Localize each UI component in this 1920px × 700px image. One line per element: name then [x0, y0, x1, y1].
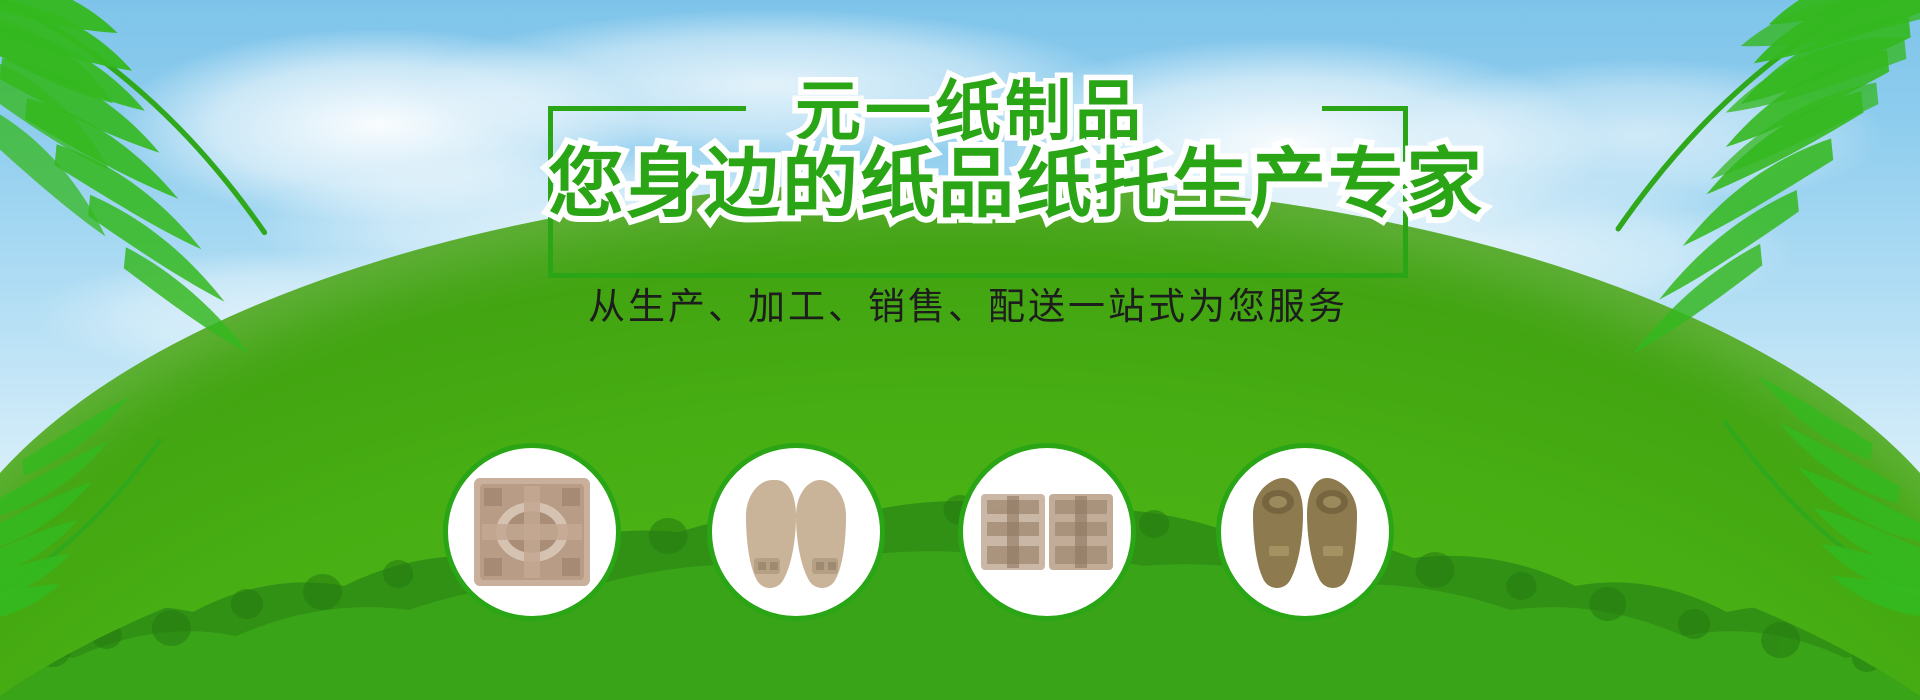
- paper-pulp-tray-pair-icon: [977, 472, 1117, 592]
- headline-frame-top-left: [548, 106, 746, 111]
- product-circle-2[interactable]: [707, 443, 885, 621]
- promo-banner: 元一纸制品 您身边的纸品纸托生产专家 从生产、加工、销售、配送一站式为您服务: [0, 0, 1920, 700]
- company-name: 元一纸制品: [795, 78, 1145, 144]
- paper-pulp-tray-square-icon: [462, 472, 602, 592]
- headline-frame-bottom: [548, 273, 1408, 278]
- product-circle-4[interactable]: [1216, 443, 1394, 621]
- product-circle-3[interactable]: [958, 443, 1136, 621]
- headline-slogan: 您身边的纸品纸托生产专家: [548, 147, 1484, 223]
- paper-pulp-shoe-tree-icon: [726, 472, 866, 592]
- product-circle-1[interactable]: [443, 443, 621, 621]
- headline-frame-top-right: [1322, 106, 1408, 111]
- green-hill: [0, 180, 1920, 700]
- subtitle-text: 从生产、加工、销售、配送一站式为您服务: [588, 288, 1348, 325]
- paper-pulp-shoe-insert-icon: [1235, 472, 1375, 592]
